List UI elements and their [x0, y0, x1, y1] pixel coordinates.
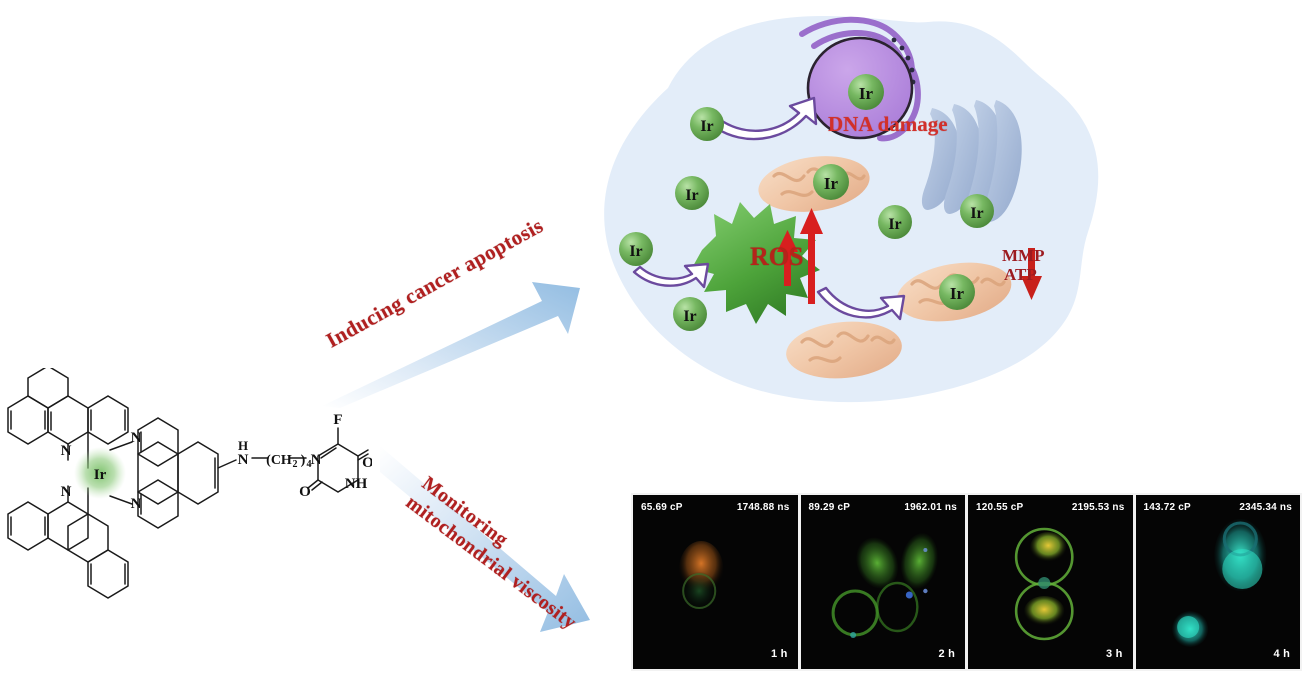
- molecule-carbonyl-o1: O: [362, 455, 372, 471]
- cell-image-2h: [801, 495, 966, 669]
- ir-sphere-nucleus: Ir: [848, 74, 884, 110]
- microscopy-panel-strip: 65.69 cP 1748.88 ns 1 h: [631, 493, 1302, 671]
- cell-image-1h: [633, 495, 798, 669]
- lifetime-label-3h: 2195.53 ns: [1072, 502, 1125, 513]
- mmp-label: MMP: [1002, 246, 1044, 265]
- microscopy-panel-1h[interactable]: 65.69 cP 1748.88 ns 1 h: [633, 495, 798, 669]
- timepoint-label-4h: 4 h: [1274, 648, 1291, 660]
- molecule-n-label: N: [61, 484, 72, 500]
- timepoint-label-1h: 1 h: [771, 648, 788, 660]
- ir-sphere-mito-top: Ir: [813, 164, 849, 200]
- lifetime-label-4h: 2345.34 ns: [1239, 502, 1292, 513]
- molecule-fluorine: F: [333, 412, 342, 428]
- molecule-n-label: N: [131, 430, 142, 446]
- cell-image-3h: [968, 495, 1133, 669]
- molecule-linker-close: ): [301, 453, 306, 468]
- arrow-monitoring-viscosity: [378, 428, 640, 654]
- svg-text:Ir: Ir: [859, 84, 874, 103]
- graphical-abstract-canvas: Ir N N N N N H (CH 2 ) 4 N O O NH F: [0, 0, 1308, 675]
- dna-damage-label: DNA damage: [828, 112, 948, 137]
- viscosity-label-2h: 89.29 cP: [809, 502, 851, 513]
- cell-diagram: Ir Ir: [576, 0, 1112, 420]
- arrow-up-shape: [322, 282, 580, 408]
- lifetime-label-1h: 1748.88 ns: [737, 502, 790, 513]
- viscosity-label-3h: 120.55 cP: [976, 502, 1023, 513]
- microscopy-panel-4h[interactable]: 143.72 cP 2345.34 ns 4 h: [1136, 495, 1301, 669]
- ir-sphere-mito-middle: Ir: [939, 274, 975, 310]
- timepoint-label-2h: 2 h: [939, 648, 956, 660]
- molecule-uracil-n-label: N: [311, 452, 322, 468]
- timepoint-label-3h: 3 h: [1106, 648, 1123, 660]
- lifetime-label-2h: 1962.01 ns: [904, 502, 957, 513]
- molecule-ir-label: Ir: [94, 467, 107, 483]
- molecule-linker-sub: 2: [293, 459, 298, 470]
- molecule-uracil-nh: NH: [345, 476, 368, 492]
- microscopy-panel-2h[interactable]: 89.29 cP 1962.01 ns 2 h: [801, 495, 966, 669]
- microscopy-panel-3h[interactable]: 120.55 cP 2195.53 ns 3 h: [968, 495, 1133, 669]
- svg-text:Ir: Ir: [950, 284, 965, 303]
- svg-text:Ir: Ir: [824, 174, 839, 193]
- molecule-structure: Ir N N N N N H (CH 2 ) 4 N O O NH F: [0, 368, 372, 620]
- viscosity-label-1h: 65.69 cP: [641, 502, 683, 513]
- molecule-amine-n-label: N: [238, 452, 249, 468]
- molecule-amine-h-label: H: [238, 438, 248, 453]
- molecule-n-label: N: [61, 443, 72, 459]
- cell-image-4h: [1136, 495, 1301, 669]
- molecule-linker-label: (CH: [266, 453, 292, 468]
- atp-label: ATP: [1004, 265, 1037, 284]
- viscosity-label-4h: 143.72 cP: [1144, 502, 1191, 513]
- molecule-n-label: N: [131, 496, 142, 512]
- ros-label: ROS: [750, 242, 803, 272]
- molecule-carbonyl-o2: O: [299, 484, 311, 500]
